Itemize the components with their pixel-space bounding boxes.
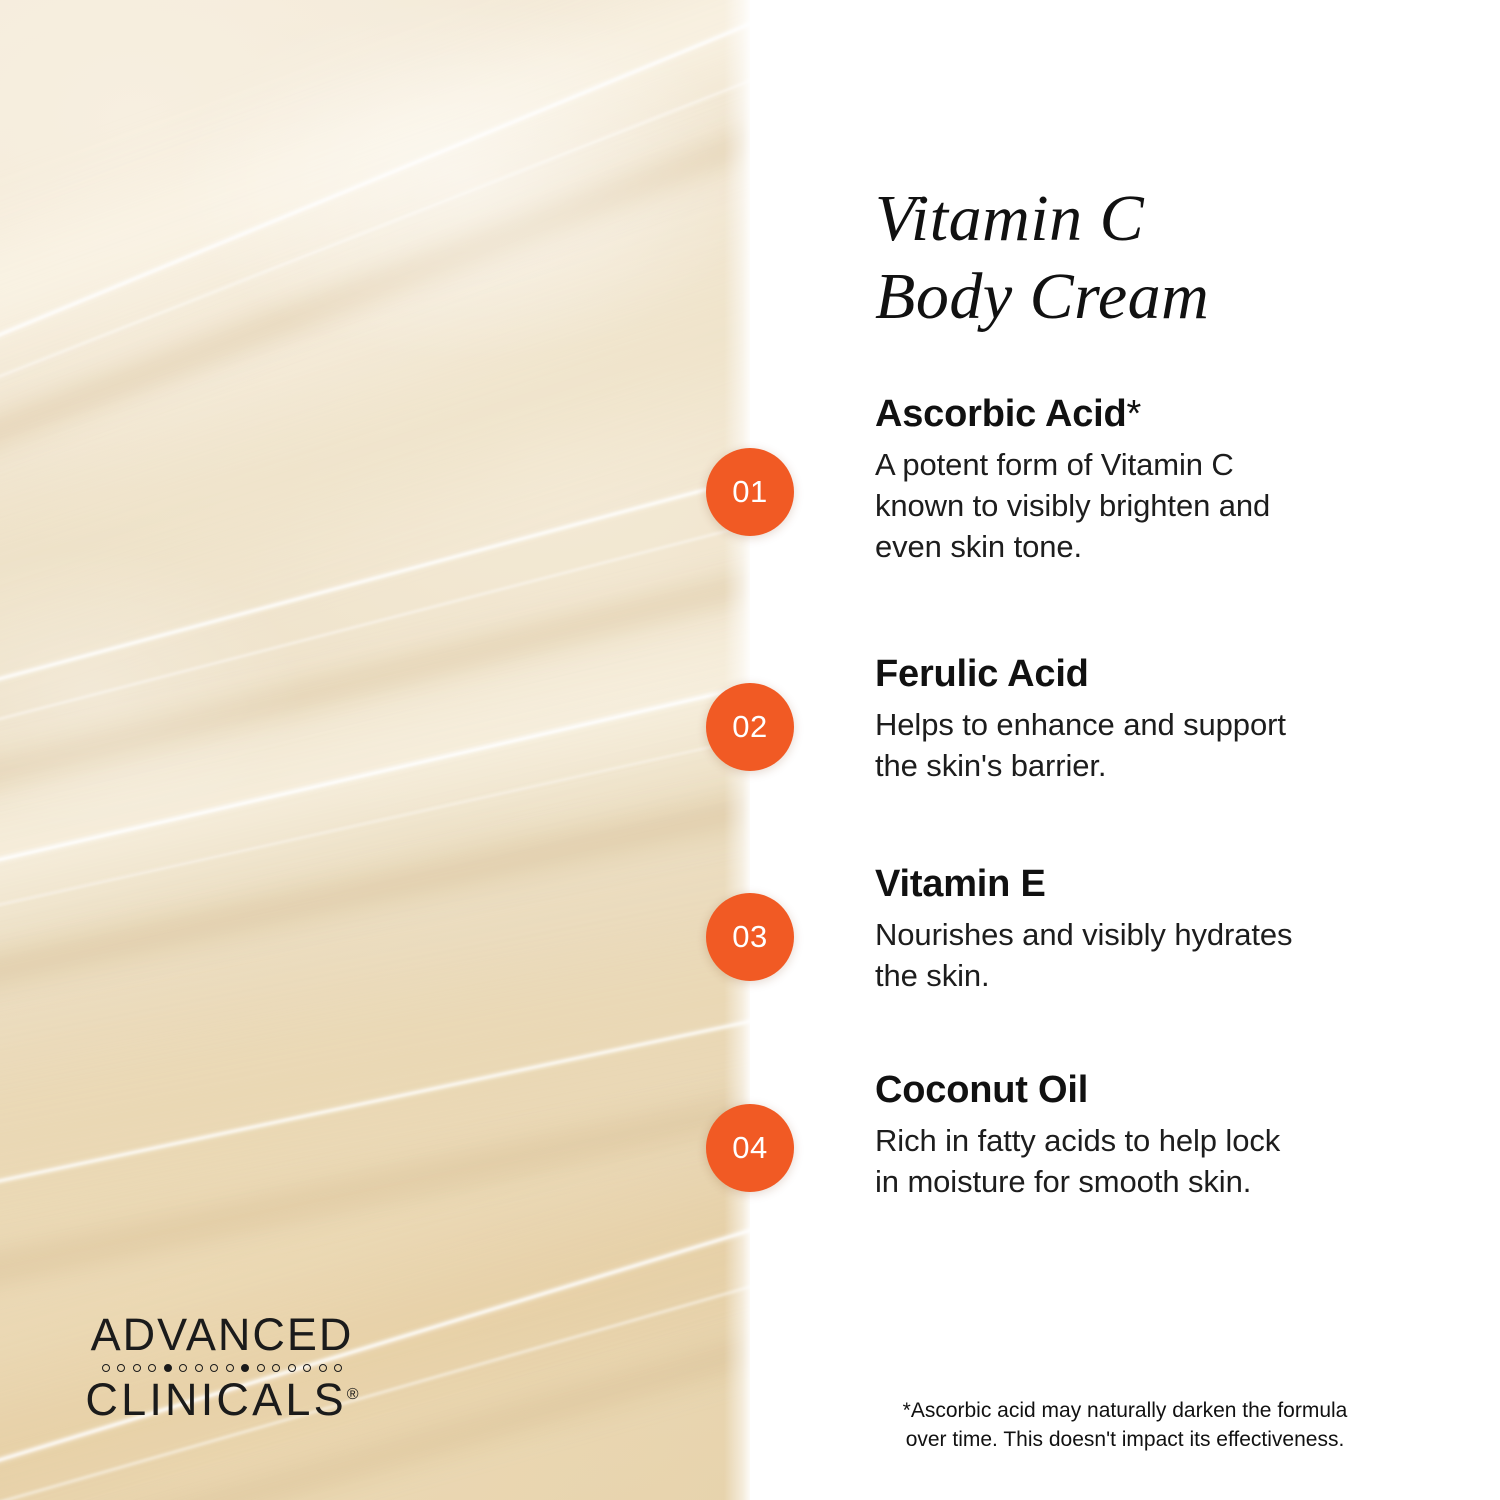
footnote-marker: * [1127,393,1142,435]
registered-trademark-icon: ® [347,1386,359,1403]
brand-logo-dot [257,1364,265,1372]
brand-logo-dot [210,1364,218,1372]
ingredient-name-text: Ascorbic Acid [875,393,1127,435]
ingredient-name: Ferulic Acid [875,652,1375,697]
brand-logo-dot [164,1364,172,1372]
ingredient-description: A potent form of Vitamin C known to visi… [875,444,1375,568]
ingredient-block-01: Ascorbic Acid* A potent form of Vitamin … [875,392,1375,567]
ingredient-description: Rich in fatty acids to help lock in mois… [875,1120,1375,1202]
ingredient-badge-04: 04 [706,1104,794,1192]
brand-logo-dot [288,1364,296,1372]
cream-texture-image: ADVANCED CLINICALS® [0,0,750,1500]
ingredient-description: Nourishes and visibly hydrates the skin. [875,914,1375,996]
ingredient-name: Ascorbic Acid* [875,392,1375,437]
page-title: Vitamin C Body Cream [875,180,1209,336]
brand-logo-dot [272,1364,280,1372]
brand-logo-dot [303,1364,311,1372]
ingredient-description: Helps to enhance and support the skin's … [875,704,1375,786]
brand-logo-dot [117,1364,125,1372]
brand-logo-dot-row [72,1364,372,1372]
ingredient-block-02: Ferulic Acid Helps to enhance and suppor… [875,652,1375,786]
content-panel: Vitamin C Body Cream Ascorbic Acid* A po… [750,0,1500,1500]
product-infographic: ADVANCED CLINICALS® Vitamin C Body Cream… [0,0,1500,1500]
brand-logo-dot [334,1364,342,1372]
footnote-disclaimer: *Ascorbic acid may naturally darken the … [860,1397,1390,1455]
brand-logo-dot [148,1364,156,1372]
ingredient-name-text: Coconut Oil [875,1069,1088,1111]
brand-logo-dot [133,1364,141,1372]
ingredient-name-text: Vitamin E [875,863,1046,905]
brand-logo-dot [226,1364,234,1372]
brand-logo: ADVANCED CLINICALS® [72,1312,372,1422]
ingredient-badge-01: 01 [706,448,794,536]
ingredient-block-04: Coconut Oil Rich in fatty acids to help … [875,1068,1375,1202]
brand-logo-dot [319,1364,327,1372]
ingredient-badge-02: 02 [706,683,794,771]
brand-logo-dot [195,1364,203,1372]
ingredient-badge-03: 03 [706,893,794,981]
ingredient-name: Coconut Oil [875,1068,1375,1113]
brand-logo-line-clinicals: CLINICALS® [72,1377,372,1422]
brand-logo-dot [241,1364,249,1372]
brand-logo-clinicals-text: CLINICALS [85,1374,346,1425]
ingredient-name: Vitamin E [875,862,1375,907]
ingredient-block-03: Vitamin E Nourishes and visibly hydrates… [875,862,1375,996]
ingredient-name-text: Ferulic Acid [875,653,1089,695]
brand-logo-line-advanced: ADVANCED [72,1312,372,1357]
brand-logo-dot [179,1364,187,1372]
brand-logo-dot [102,1364,110,1372]
